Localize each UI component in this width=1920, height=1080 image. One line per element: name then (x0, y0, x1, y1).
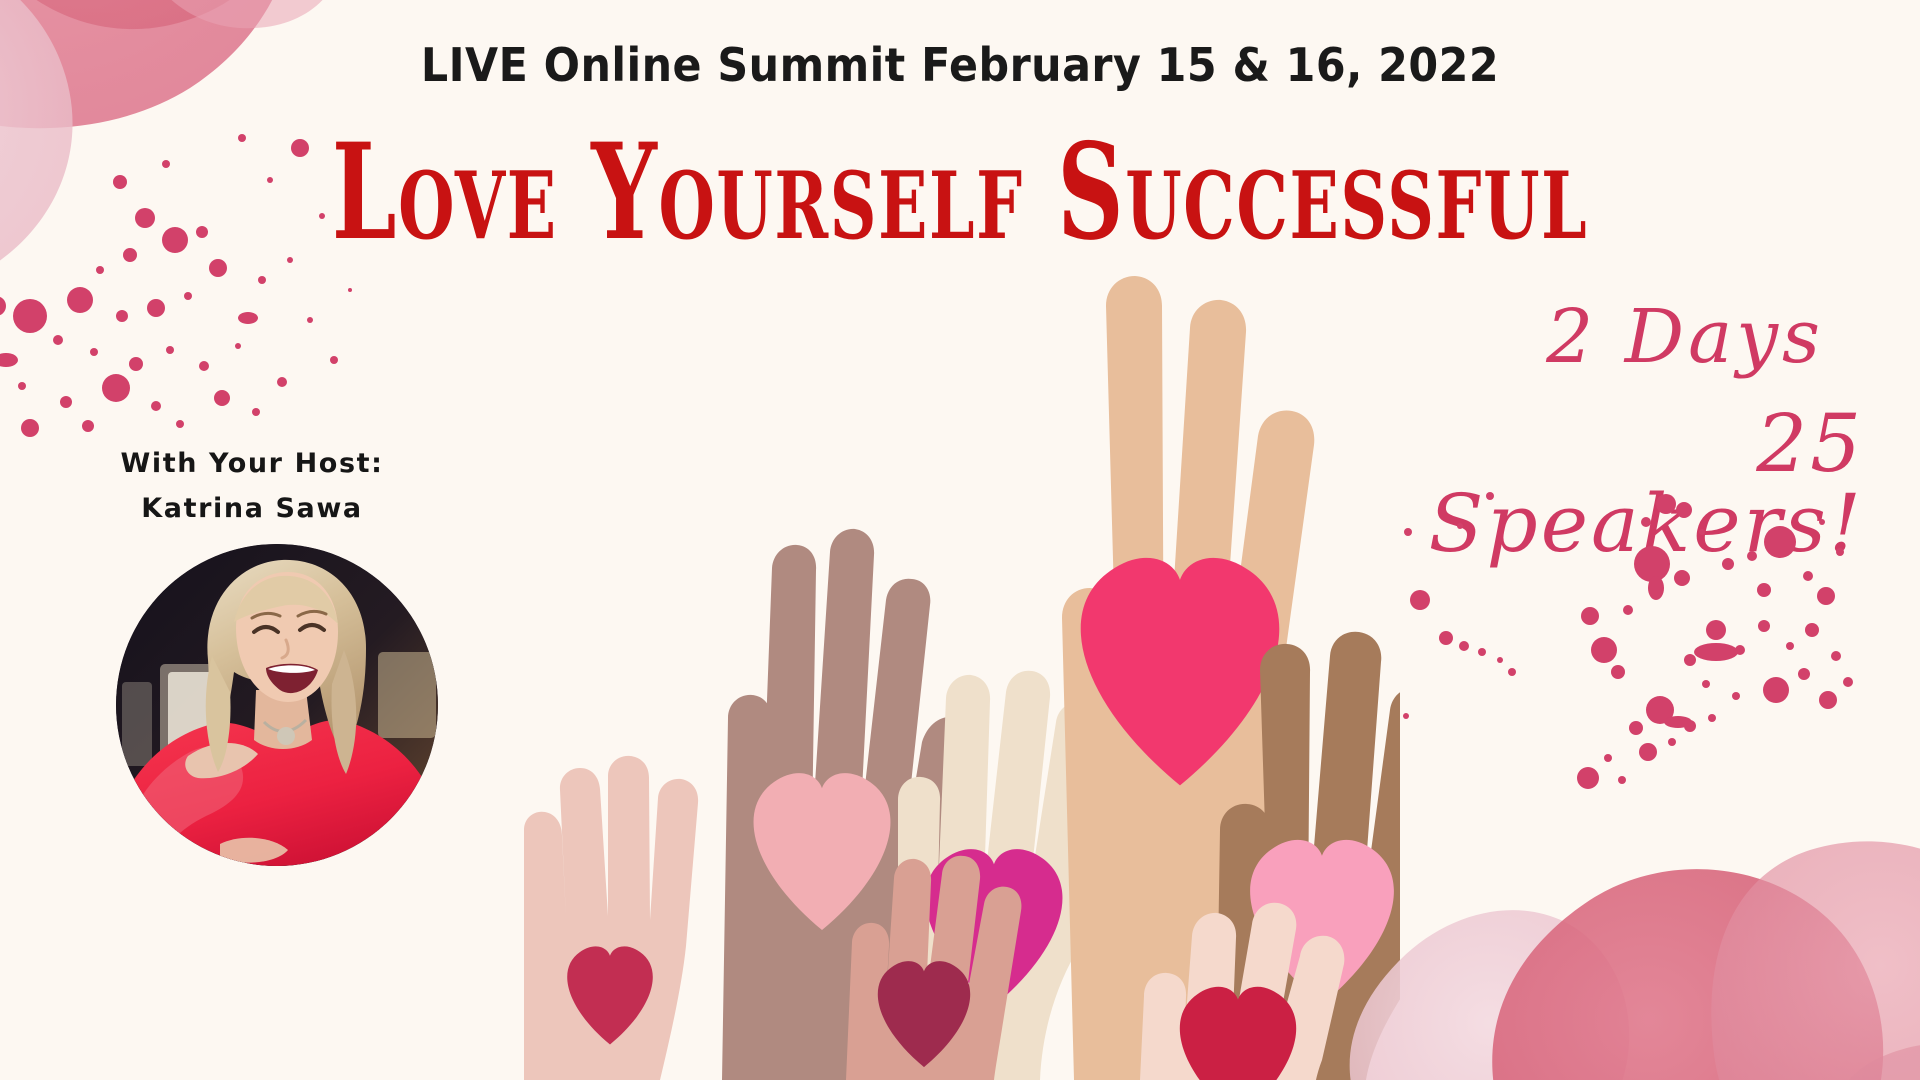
event-dates-line: LIVE Online Summit February 15 & 16, 202… (67, 38, 1853, 92)
page-title: Love Yourself Successful (211, 126, 1709, 258)
host-text-block: With Your Host: Katrina Sawa (72, 448, 432, 524)
raised-hands-illustration (500, 270, 1400, 1080)
hand-blush-left (524, 756, 698, 1080)
host-label: With Your Host: (72, 448, 432, 479)
promo-banner: LIVE Online Summit February 15 & 16, 202… (0, 0, 1920, 1080)
hands-with-hearts-svg (500, 270, 1400, 1080)
host-name: Katrina Sawa (72, 493, 432, 524)
host-portrait-illustration (116, 544, 438, 866)
watercolor-petals-bottom-right (1340, 630, 1920, 1080)
avatar (116, 544, 438, 866)
